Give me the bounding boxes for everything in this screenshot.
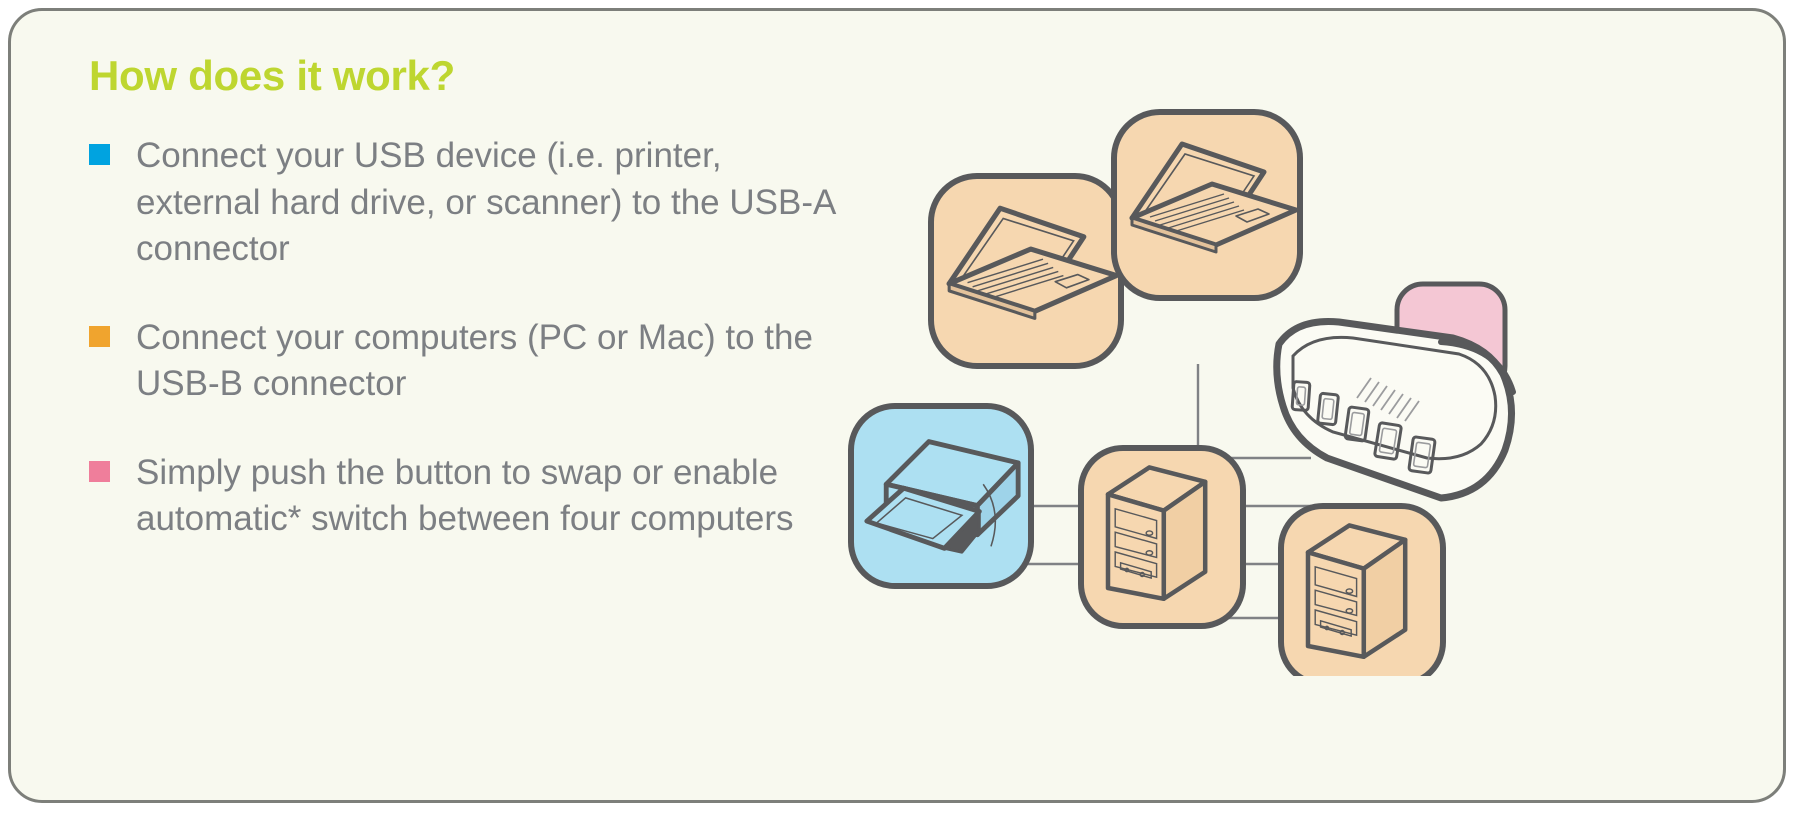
list-item: Connect your USB device (i.e. printer, e… xyxy=(89,133,849,273)
printer-tile xyxy=(851,406,1031,586)
list-item: Simply push the button to swap or enable… xyxy=(89,450,849,543)
feature-bullet-list: Connect your USB device (i.e. printer, e… xyxy=(89,133,849,543)
bullet-square-icon xyxy=(89,326,110,347)
usb-switch-connection-diagram xyxy=(841,106,1561,676)
info-card: How does it work? Connect your USB devic… xyxy=(8,8,1786,803)
bullet-square-icon xyxy=(89,461,110,482)
laptop-tile-2 xyxy=(1114,112,1300,298)
bullet-text: Simply push the button to swap or enable… xyxy=(136,450,849,543)
desktop-tile-2 xyxy=(1281,506,1443,676)
page-title: How does it work? xyxy=(89,53,849,99)
list-item: Connect your computers (PC or Mac) to th… xyxy=(89,315,849,408)
usb-switch-device xyxy=(1277,321,1513,498)
laptop-tile-1 xyxy=(931,176,1121,366)
bullet-square-icon xyxy=(89,144,110,165)
bullet-text: Connect your computers (PC or Mac) to th… xyxy=(136,315,849,408)
bullet-text: Connect your USB device (i.e. printer, e… xyxy=(136,133,849,273)
text-column: How does it work? Connect your USB devic… xyxy=(89,53,849,543)
desktop-tile-1 xyxy=(1081,448,1243,626)
